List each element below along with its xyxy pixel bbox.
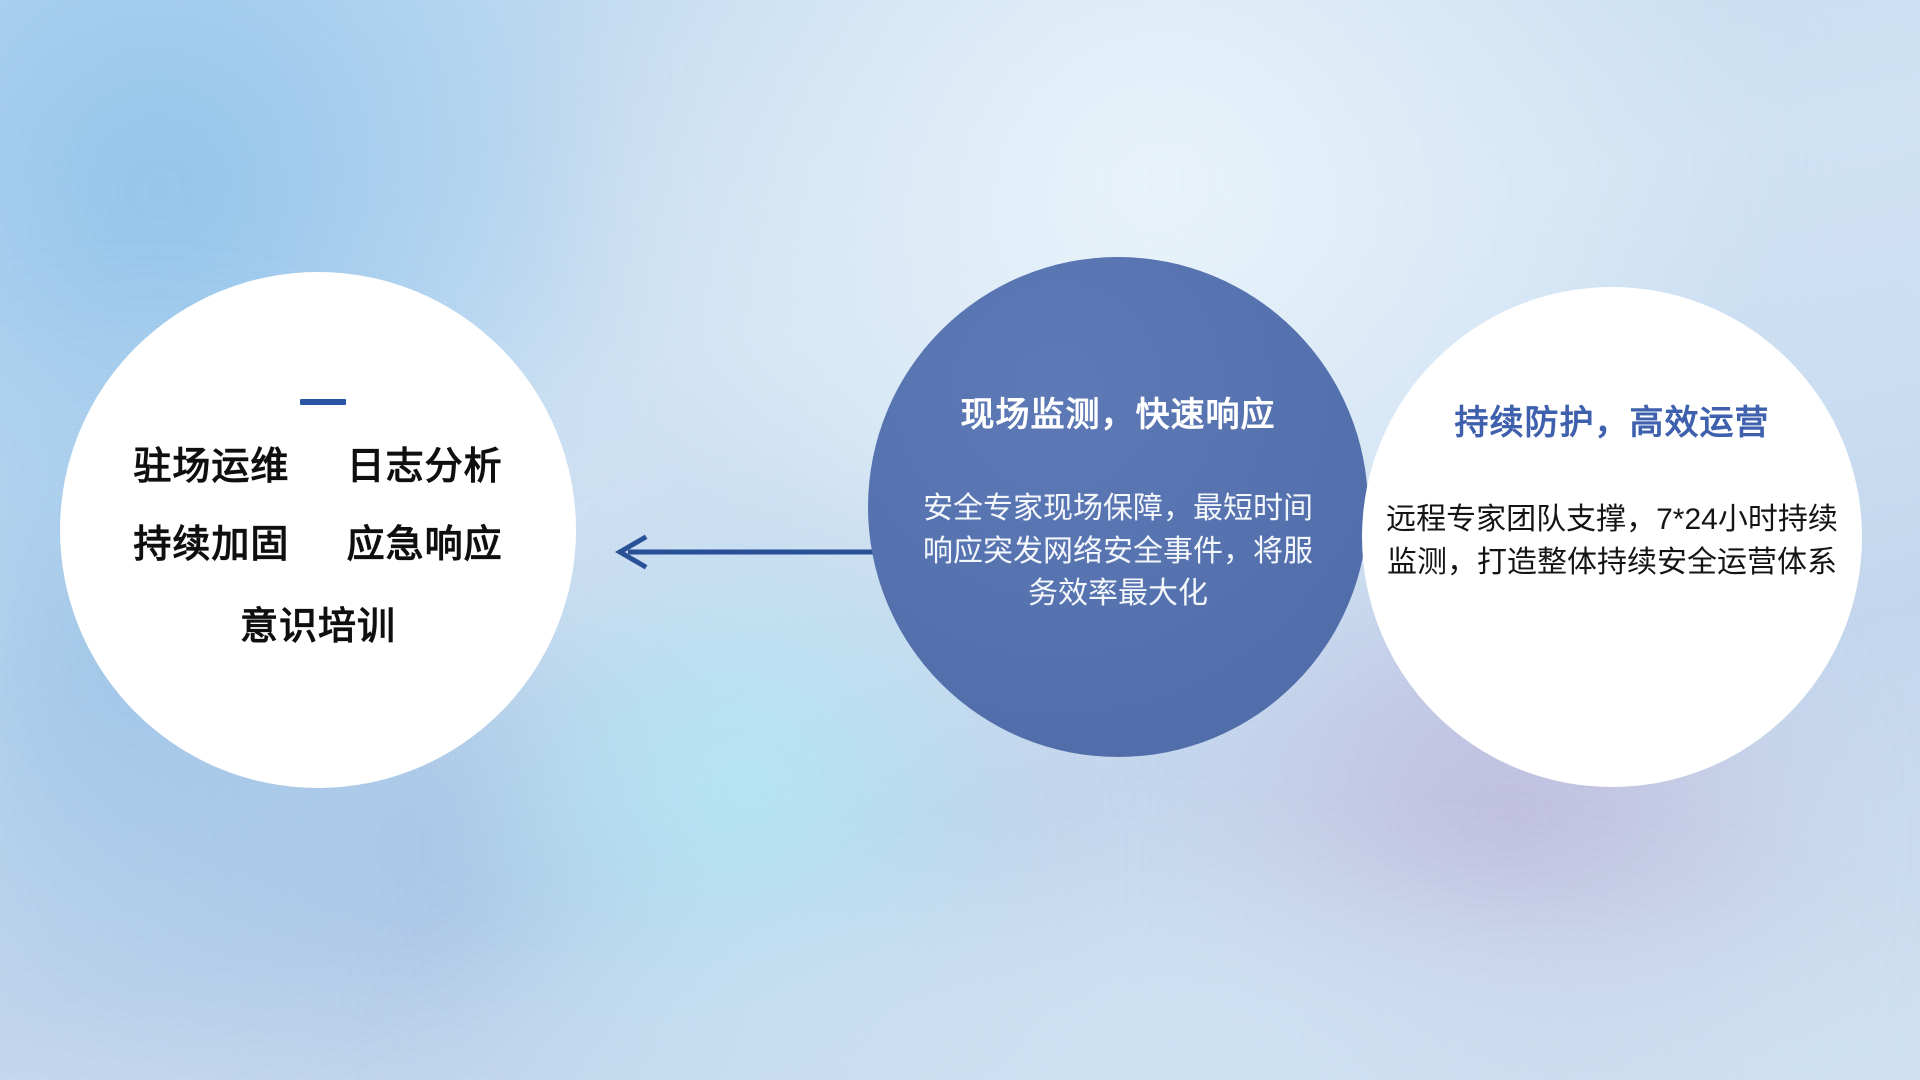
capability-tag: 日志分析: [347, 446, 503, 488]
circle-body-text: 远程专家团队支撑，7*24小时持续监测，打造整体持续安全运营体系: [1382, 499, 1842, 584]
divider-dash: [300, 399, 346, 405]
capability-list: 驻场运维 日志分析 持续加固 应急响应 意识培训: [60, 448, 576, 646]
capability-tag: 意识培训: [240, 606, 396, 648]
capability-circle-left[interactable]: 驻场运维 日志分析 持续加固 应急响应 意识培训: [60, 272, 576, 788]
service-circle-onsite[interactable]: 现场监测，快速响应 安全专家现场保障，最短时间响应突发网络安全事件，将服务效率最…: [868, 257, 1368, 757]
capability-tag: 应急响应: [347, 524, 503, 566]
capability-row: 驻场运维 日志分析: [60, 448, 576, 486]
capability-tag: 驻场运维: [133, 446, 289, 488]
capability-row: 意识培训: [60, 608, 576, 646]
circle-body-text: 安全专家现场保障，最短时间响应突发网络安全事件，将服务效率最大化: [914, 488, 1322, 616]
capability-tag: 持续加固: [133, 524, 289, 566]
arrow-left-icon: [600, 528, 900, 576]
capability-row: 持续加固 应急响应: [60, 526, 576, 564]
circle-heading: 现场监测，快速响应: [840, 387, 1396, 436]
slide-canvas: 驻场运维 日志分析 持续加固 应急响应 意识培训 现场监测，快速响应 安全专家现…: [0, 0, 1920, 1080]
circle-heading: 持续防护，高效运营: [1362, 395, 1862, 444]
service-circle-remote[interactable]: 持续防护，高效运营 远程专家团队支撑，7*24小时持续监测，打造整体持续安全运营…: [1362, 287, 1862, 787]
